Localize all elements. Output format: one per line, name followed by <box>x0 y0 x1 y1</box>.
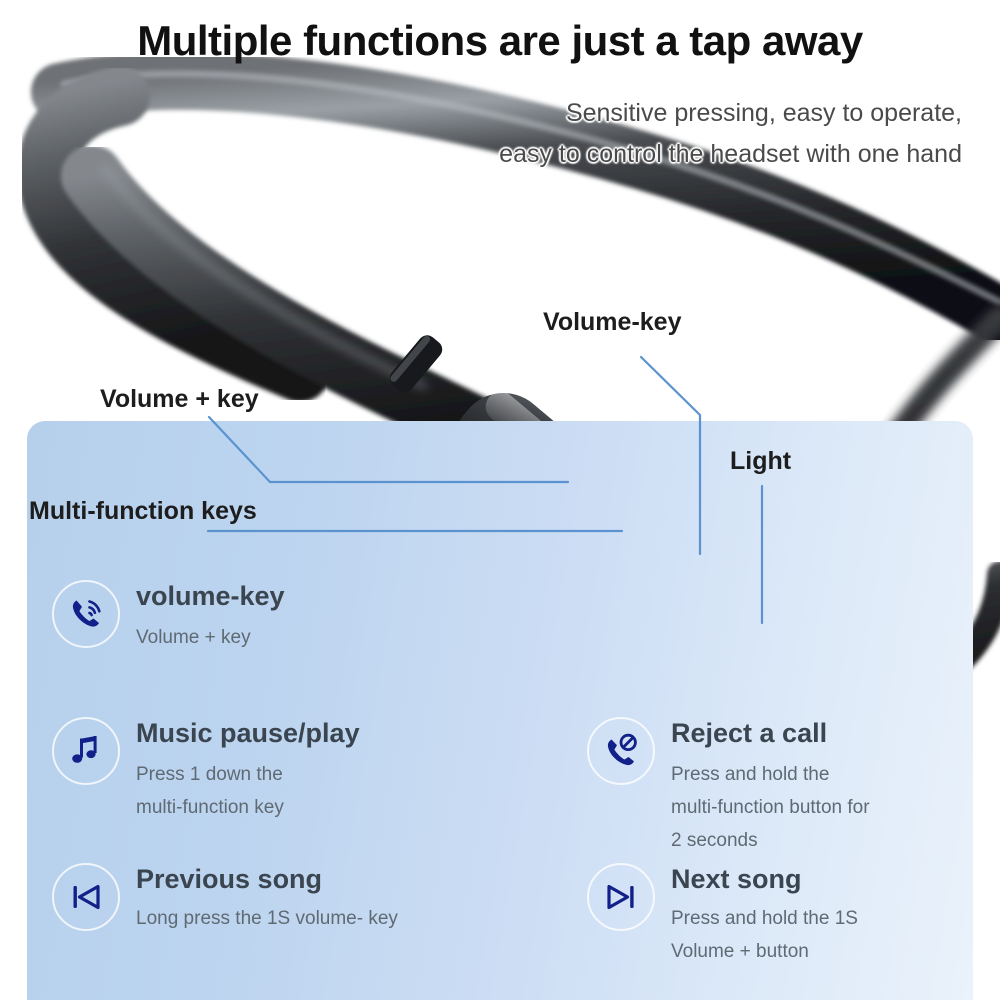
page-title: Multiple functions are just a tap away <box>0 17 1000 65</box>
feature-title: Next song <box>671 865 858 895</box>
feature-desc-line: 2 seconds <box>671 824 870 857</box>
feature-title: Music pause/play <box>136 719 360 749</box>
feature-desc-line: Press and hold the 1S <box>671 902 858 935</box>
feature-item-music-pause-play: Music pause/play Press 1 down the multi-… <box>52 717 360 824</box>
subtitle-line-2: easy to control the headset with one han… <box>322 134 962 175</box>
feature-text: volume-key Volume + key <box>136 580 285 654</box>
feature-desc-line: Press 1 down the <box>136 758 360 791</box>
feature-description: Press and hold the multi-function button… <box>671 758 870 858</box>
feature-description: Volume + key <box>136 621 285 654</box>
previous-track-icon <box>52 863 120 931</box>
feature-title: volume-key <box>136 582 285 612</box>
feature-item-next-song: Next song Press and hold the 1S Volume +… <box>587 863 858 968</box>
feature-description: Press 1 down the multi-function key <box>136 758 360 825</box>
feature-description: Press and hold the 1S Volume + button <box>671 902 858 969</box>
feature-desc-line: Long press the 1S volume- key <box>136 902 398 935</box>
music-note-icon <box>52 717 120 785</box>
feature-desc-line: multi-function key <box>136 791 360 824</box>
feature-desc-line: Volume + button <box>671 935 858 968</box>
callout-label-multi-function-keys: Multi-function keys <box>29 497 257 526</box>
feature-text: Music pause/play Press 1 down the multi-… <box>136 717 360 824</box>
feature-description: Long press the 1S volume- key <box>136 902 398 935</box>
feature-text: Reject a call Press and hold the multi-f… <box>671 717 870 857</box>
next-track-icon <box>587 863 655 931</box>
product-infographic: Multiple functions are just a tap away S… <box>0 0 1000 1000</box>
feature-title: Reject a call <box>671 719 870 749</box>
feature-desc-line: Press and hold the <box>671 758 870 791</box>
feature-text: Previous song Long press the 1S volume- … <box>136 863 398 935</box>
feature-item-previous-song: Previous song Long press the 1S volume- … <box>52 863 398 935</box>
phone-call-icon <box>52 580 120 648</box>
feature-list: volume-key Volume + key Music pause/play <box>27 575 973 1000</box>
feature-text: Next song Press and hold the 1S Volume +… <box>671 863 858 968</box>
feature-item-reject-a-call: Reject a call Press and hold the multi-f… <box>587 717 870 857</box>
feature-desc-line: Volume + key <box>136 621 285 654</box>
phone-reject-icon <box>587 717 655 785</box>
callout-label-volume-plus-key: Volume + key <box>100 385 259 414</box>
page-subtitle: Sensitive pressing, easy to operate, eas… <box>322 93 962 174</box>
feature-desc-line: multi-function button for <box>671 791 870 824</box>
subtitle-line-1: Sensitive pressing, easy to operate, <box>322 93 962 134</box>
callout-label-volume-minus-key: Volume-key <box>543 308 681 337</box>
callout-label-light: Light <box>730 447 791 476</box>
feature-title: Previous song <box>136 865 398 895</box>
feature-item-volume-key: volume-key Volume + key <box>52 580 285 654</box>
